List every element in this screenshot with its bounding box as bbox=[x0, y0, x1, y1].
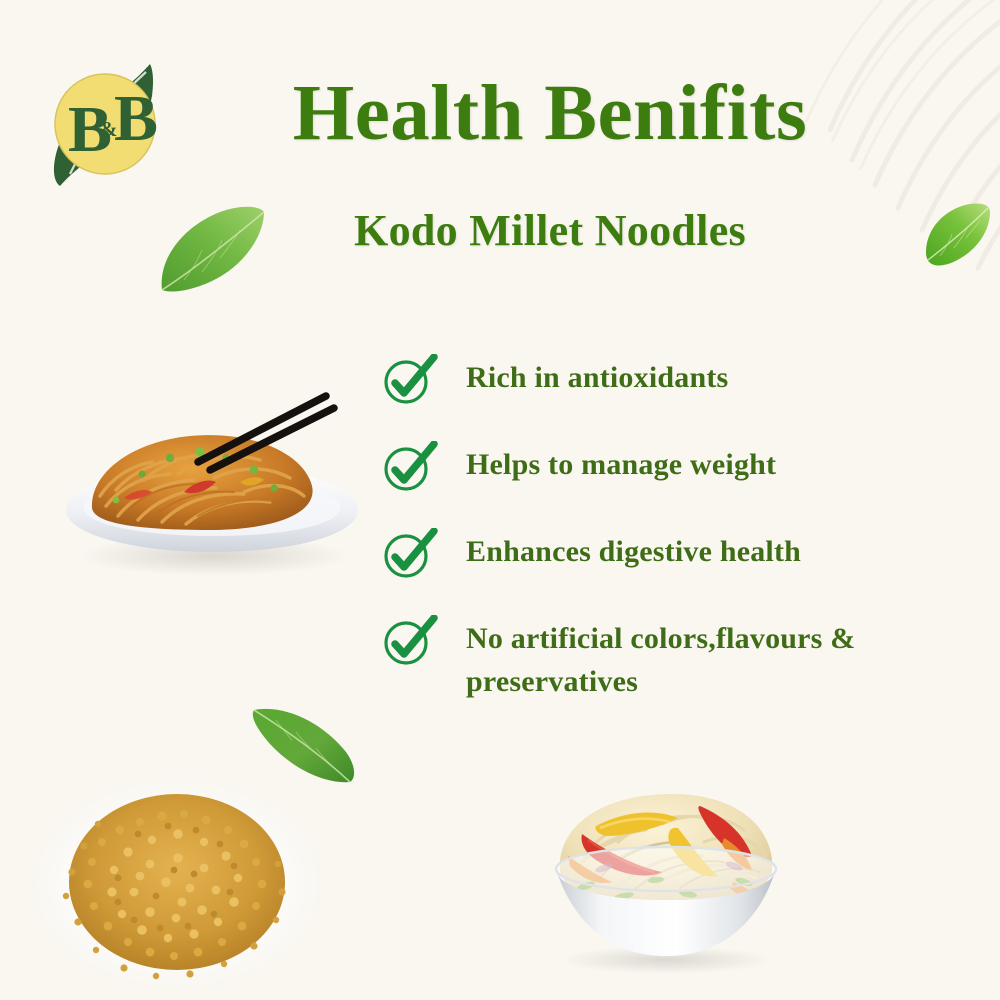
list-item: No artificial colors,flavours & preserva… bbox=[382, 613, 972, 703]
leaf-icon-mid-left bbox=[244, 694, 362, 794]
list-item: Rich in antioxidants bbox=[382, 352, 972, 406]
page-subtitle: Kodo Millet Noodles bbox=[150, 207, 950, 255]
benefits-list: Rich in antioxidants Helps to manage wei… bbox=[382, 352, 972, 703]
check-circle-icon bbox=[382, 354, 438, 406]
benefit-label: Rich in antioxidants bbox=[466, 352, 728, 400]
benefit-label: No artificial colors,flavours & preserva… bbox=[466, 613, 972, 703]
list-item: Helps to manage weight bbox=[382, 439, 972, 493]
noodle-bowl-photo bbox=[538, 768, 793, 973]
list-item: Enhances digestive health bbox=[382, 526, 972, 580]
check-circle-icon bbox=[382, 615, 438, 667]
check-circle-icon bbox=[382, 441, 438, 493]
millet-grain-photo bbox=[32, 772, 322, 990]
noodle-plate-photo bbox=[58, 378, 366, 583]
check-circle-icon bbox=[382, 528, 438, 580]
logo-letter-secondary: B bbox=[114, 82, 158, 155]
page-title: Health Benifits bbox=[190, 72, 910, 156]
benefit-label: Helps to manage weight bbox=[466, 439, 776, 487]
benefit-label: Enhances digestive health bbox=[466, 526, 801, 574]
brand-logo[interactable]: B & B bbox=[38, 58, 173, 190]
